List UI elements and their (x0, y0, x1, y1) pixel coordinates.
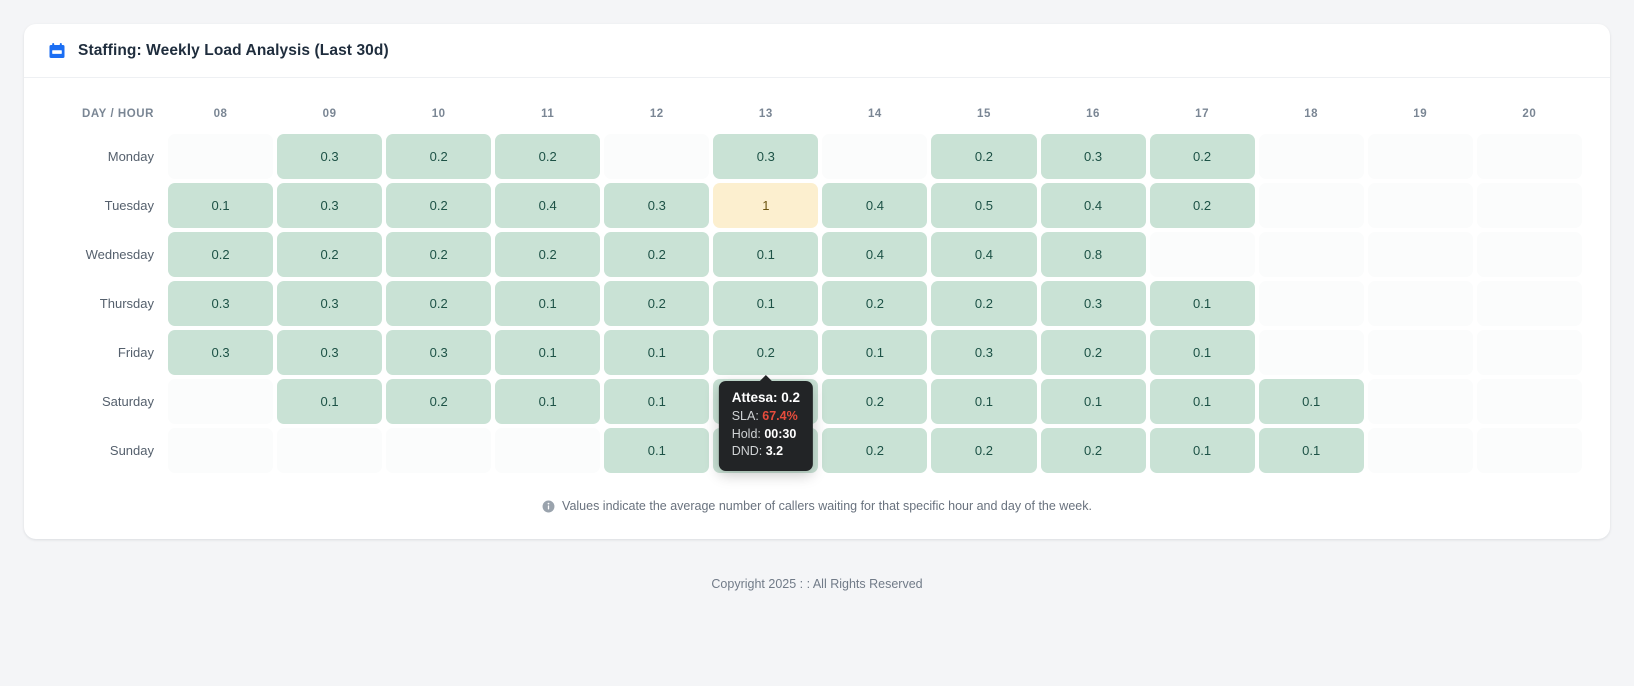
heatmap-card: Staffing: Weekly Load Analysis (Last 30d… (24, 24, 1610, 539)
day-label-friday: Friday (52, 330, 164, 375)
heatmap-cell-monday-10[interactable]: 0.2 (386, 134, 491, 179)
hour-header-18: 18 (1259, 104, 1364, 130)
heatmap-cell-tuesday-20[interactable] (1477, 183, 1582, 228)
heatmap-cell-wednesday-10[interactable]: 0.2 (386, 232, 491, 277)
hour-header-19: 19 (1368, 104, 1473, 130)
heatmap-cell-wednesday-09[interactable]: 0.2 (277, 232, 382, 277)
heatmap-cell-tuesday-12[interactable]: 0.3 (604, 183, 709, 228)
heatmap-cell-saturday-10[interactable]: 0.2 (386, 379, 491, 424)
heatmap-cell-saturday-20[interactable] (1477, 379, 1582, 424)
heatmap-cell-monday-20[interactable] (1477, 134, 1582, 179)
table-row: Saturday0.10.20.10.10.10.20.10.10.10.1 (52, 379, 1582, 424)
heatmap-cell-monday-17[interactable]: 0.2 (1150, 134, 1255, 179)
heatmap-cell-tuesday-14[interactable]: 0.4 (822, 183, 927, 228)
heatmap-cell-monday-09[interactable]: 0.3 (277, 134, 382, 179)
heatmap-cell-tuesday-11[interactable]: 0.4 (495, 183, 600, 228)
heatmap-cell-friday-13[interactable]: 0.2Attesa: 0.2SLA: 67.4%Hold: 00:30DND: … (713, 330, 818, 375)
heatmap-cell-thursday-10[interactable]: 0.2 (386, 281, 491, 326)
heatmap-cell-thursday-09[interactable]: 0.3 (277, 281, 382, 326)
heatmap-cell-wednesday-17[interactable] (1150, 232, 1255, 277)
heatmap-cell-thursday-08[interactable]: 0.3 (168, 281, 273, 326)
table-row: Thursday0.30.30.20.10.20.10.20.20.30.1 (52, 281, 1582, 326)
heatmap-cell-sunday-20[interactable] (1477, 428, 1582, 473)
card-note-text: Values indicate the average number of ca… (562, 499, 1092, 513)
heatmap-cell-thursday-19[interactable] (1368, 281, 1473, 326)
heatmap-cell-sunday-18[interactable]: 0.1 (1259, 428, 1364, 473)
hour-header-14: 14 (822, 104, 927, 130)
table-row: Sunday0.10.10.20.20.20.10.1 (52, 428, 1582, 473)
heatmap-cell-wednesday-20[interactable] (1477, 232, 1582, 277)
heatmap-cell-friday-19[interactable] (1368, 330, 1473, 375)
info-icon (542, 500, 555, 513)
copyright-text: Copyright 2025 : : All Rights Reserved (24, 539, 1610, 591)
heatmap-cell-sunday-19[interactable] (1368, 428, 1473, 473)
heatmap-cell-friday-08[interactable]: 0.3 (168, 330, 273, 375)
heatmap-cell-monday-19[interactable] (1368, 134, 1473, 179)
heatmap-cell-thursday-13[interactable]: 0.1 (713, 281, 818, 326)
heatmap-cell-tuesday-15[interactable]: 0.5 (931, 183, 1036, 228)
heatmap-cell-sunday-14[interactable]: 0.2 (822, 428, 927, 473)
heatmap-cell-tuesday-08[interactable]: 0.1 (168, 183, 273, 228)
heatmap-cell-tuesday-16[interactable]: 0.4 (1041, 183, 1146, 228)
heatmap-corner-label: DAY / HOUR (52, 104, 164, 130)
heatmap-cell-wednesday-08[interactable]: 0.2 (168, 232, 273, 277)
heatmap-cell-thursday-16[interactable]: 0.3 (1041, 281, 1146, 326)
table-row: Monday0.30.20.20.30.20.30.2 (52, 134, 1582, 179)
heatmap-cell-friday-17[interactable]: 0.1 (1150, 330, 1255, 375)
heatmap-cell-tuesday-09[interactable]: 0.3 (277, 183, 382, 228)
hour-header-10: 10 (386, 104, 491, 130)
heatmap-cell-monday-18[interactable] (1259, 134, 1364, 179)
heatmap-cell-saturday-16[interactable]: 0.1 (1041, 379, 1146, 424)
heatmap-cell-friday-16[interactable]: 0.2 (1041, 330, 1146, 375)
heatmap-cell-saturday-11[interactable]: 0.1 (495, 379, 600, 424)
heatmap-cell-monday-13[interactable]: 0.3 (713, 134, 818, 179)
heatmap-cell-friday-11[interactable]: 0.1 (495, 330, 600, 375)
heatmap-cell-sunday-11[interactable] (495, 428, 600, 473)
heatmap-cell-thursday-17[interactable]: 0.1 (1150, 281, 1255, 326)
card-note: Values indicate the average number of ca… (24, 487, 1610, 539)
day-label-sunday: Sunday (52, 428, 164, 473)
heatmap-cell-tuesday-19[interactable] (1368, 183, 1473, 228)
heatmap-cell-sunday-09[interactable] (277, 428, 382, 473)
heatmap-cell-saturday-13[interactable]: 0.1 (713, 379, 818, 424)
calendar-icon (48, 42, 66, 60)
heatmap-cell-friday-12[interactable]: 0.1 (604, 330, 709, 375)
heatmap-cell-wednesday-12[interactable]: 0.2 (604, 232, 709, 277)
heatmap-cell-tuesday-18[interactable] (1259, 183, 1364, 228)
heatmap-cell-tuesday-10[interactable]: 0.2 (386, 183, 491, 228)
day-label-tuesday: Tuesday (52, 183, 164, 228)
table-row: Wednesday0.20.20.20.20.20.10.40.40.8 (52, 232, 1582, 277)
day-label-monday: Monday (52, 134, 164, 179)
heatmap-cell-sunday-16[interactable]: 0.2 (1041, 428, 1146, 473)
hour-header-20: 20 (1477, 104, 1582, 130)
page-title: Staffing: Weekly Load Analysis (Last 30d… (78, 42, 389, 60)
heatmap-cell-wednesday-15[interactable]: 0.4 (931, 232, 1036, 277)
heatmap-cell-saturday-15[interactable]: 0.1 (931, 379, 1036, 424)
heatmap-cell-tuesday-17[interactable]: 0.2 (1150, 183, 1255, 228)
heatmap-cell-sunday-17[interactable]: 0.1 (1150, 428, 1255, 473)
heatmap-cell-saturday-19[interactable] (1368, 379, 1473, 424)
hour-header-09: 09 (277, 104, 382, 130)
heatmap-cell-friday-18[interactable] (1259, 330, 1364, 375)
card-header: Staffing: Weekly Load Analysis (Last 30d… (24, 24, 1610, 78)
heatmap-cell-saturday-09[interactable]: 0.1 (277, 379, 382, 424)
heatmap-cell-monday-12[interactable] (604, 134, 709, 179)
day-label-saturday: Saturday (52, 379, 164, 424)
heatmap-cell-friday-10[interactable]: 0.3 (386, 330, 491, 375)
heatmap-cell-thursday-11[interactable]: 0.1 (495, 281, 600, 326)
heatmap-cell-monday-11[interactable]: 0.2 (495, 134, 600, 179)
hour-header-12: 12 (604, 104, 709, 130)
heatmap-cell-friday-15[interactable]: 0.3 (931, 330, 1036, 375)
hour-header-11: 11 (495, 104, 600, 130)
heatmap-cell-wednesday-19[interactable] (1368, 232, 1473, 277)
heatmap-cell-saturday-14[interactable]: 0.2 (822, 379, 927, 424)
heatmap-cell-sunday-15[interactable]: 0.2 (931, 428, 1036, 473)
heatmap-table: DAY / HOUR 08091011121314151617181920 Mo… (48, 100, 1586, 477)
heatmap-cell-thursday-14[interactable]: 0.2 (822, 281, 927, 326)
day-label-wednesday: Wednesday (52, 232, 164, 277)
heatmap-cell-saturday-18[interactable]: 0.1 (1259, 379, 1364, 424)
hour-header-16: 16 (1041, 104, 1146, 130)
heatmap-cell-saturday-08[interactable] (168, 379, 273, 424)
table-row: Tuesday0.10.30.20.40.310.40.50.40.2 (52, 183, 1582, 228)
heatmap-cell-wednesday-18[interactable] (1259, 232, 1364, 277)
heatmap-cell-monday-16[interactable]: 0.3 (1041, 134, 1146, 179)
card-body: DAY / HOUR 08091011121314151617181920 Mo… (24, 78, 1610, 487)
heatmap-cell-friday-20[interactable] (1477, 330, 1582, 375)
heatmap-cell-sunday-13[interactable]: 0.1 (713, 428, 818, 473)
page-root: Staffing: Weekly Load Analysis (Last 30d… (0, 0, 1634, 686)
heatmap-cell-tuesday-13[interactable]: 1 (713, 183, 818, 228)
hour-header-17: 17 (1150, 104, 1255, 130)
heatmap-cell-thursday-12[interactable]: 0.2 (604, 281, 709, 326)
heatmap-cell-thursday-15[interactable]: 0.2 (931, 281, 1036, 326)
hour-header-13: 13 (713, 104, 818, 130)
heatmap-cell-saturday-12[interactable]: 0.1 (604, 379, 709, 424)
heatmap-body: Monday0.30.20.20.30.20.30.2Tuesday0.10.3… (52, 134, 1582, 473)
heatmap-header-row: DAY / HOUR 08091011121314151617181920 (52, 104, 1582, 130)
hour-header-08: 08 (168, 104, 273, 130)
hour-header-15: 15 (931, 104, 1036, 130)
table-row: Friday0.30.30.30.10.10.2Attesa: 0.2SLA: … (52, 330, 1582, 375)
heatmap-cell-friday-14[interactable]: 0.1 (822, 330, 927, 375)
heatmap-cell-wednesday-14[interactable]: 0.4 (822, 232, 927, 277)
heatmap-cell-monday-14[interactable] (822, 134, 927, 179)
heatmap-cell-sunday-08[interactable] (168, 428, 273, 473)
day-label-thursday: Thursday (52, 281, 164, 326)
heatmap-cell-wednesday-11[interactable]: 0.2 (495, 232, 600, 277)
heatmap-cell-sunday-12[interactable]: 0.1 (604, 428, 709, 473)
heatmap-cell-thursday-20[interactable] (1477, 281, 1582, 326)
heatmap-cell-monday-08[interactable] (168, 134, 273, 179)
heatmap-cell-wednesday-13[interactable]: 0.1 (713, 232, 818, 277)
heatmap-cell-saturday-17[interactable]: 0.1 (1150, 379, 1255, 424)
heatmap-cell-thursday-18[interactable] (1259, 281, 1364, 326)
heatmap-cell-sunday-10[interactable] (386, 428, 491, 473)
heatmap-cell-friday-09[interactable]: 0.3 (277, 330, 382, 375)
heatmap-cell-wednesday-16[interactable]: 0.8 (1041, 232, 1146, 277)
heatmap-cell-monday-15[interactable]: 0.2 (931, 134, 1036, 179)
